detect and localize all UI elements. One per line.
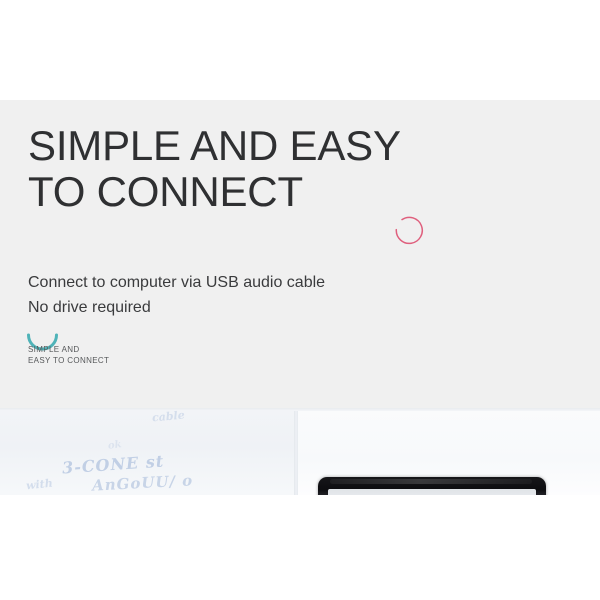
page-title: SIMPLE AND EASY TO CONNECT xyxy=(28,123,401,215)
handwriting-scrawl: with xyxy=(25,477,53,493)
hero-panel: SIMPLE AND EASY TO CONNECT Connect to co… xyxy=(0,100,600,408)
monitor-bezel-gloss xyxy=(330,479,532,484)
bottom-white-band xyxy=(0,495,600,600)
small-caption-text: SIMPLE AND EASY TO CONNECT xyxy=(28,344,109,366)
product-photo: cable 3-CONE st AnGoUU/ o with ok xyxy=(0,408,600,495)
top-white-band xyxy=(0,0,600,100)
whiteboard-top-edge xyxy=(0,408,600,411)
product-feature-slide: SIMPLE AND EASY TO CONNECT Connect to co… xyxy=(0,0,600,600)
pink-ring-accent-icon xyxy=(393,216,424,247)
monitor-frame xyxy=(318,477,546,495)
subheading-text: Connect to computer via USB audio cable … xyxy=(28,270,325,320)
handwriting-scrawl: ok xyxy=(107,439,122,452)
